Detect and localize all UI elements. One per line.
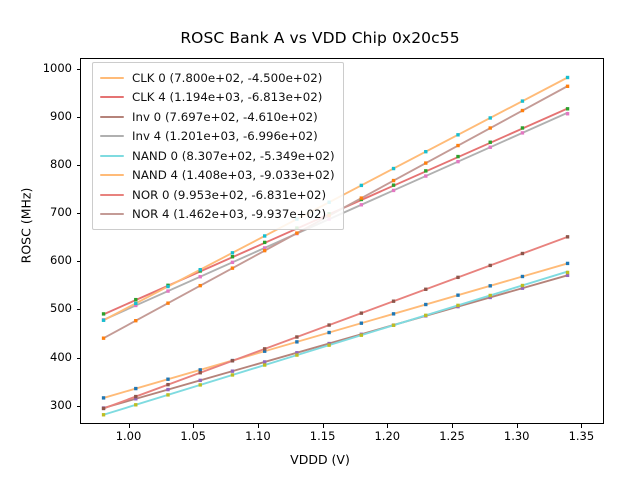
- data-point: [327, 331, 330, 334]
- data-point: [327, 323, 330, 326]
- y-tick-label: 400: [26, 350, 72, 364]
- legend-item-inv-4[interactable]: Inv 4 (1.201e+03, -6.996e+02): [100, 127, 335, 147]
- data-point: [424, 303, 427, 306]
- data-point: [199, 268, 202, 271]
- data-point: [489, 264, 492, 267]
- legend-item-clk-0[interactable]: CLK 0 (7.800e+02, -4.500e+02): [100, 68, 335, 88]
- data-point: [102, 336, 105, 339]
- data-point: [231, 251, 234, 254]
- data-point: [424, 314, 427, 317]
- data-point: [360, 334, 363, 337]
- data-point: [392, 324, 395, 327]
- data-point: [521, 109, 524, 112]
- data-point: [566, 112, 569, 115]
- data-point: [102, 407, 105, 410]
- data-point: [166, 378, 169, 381]
- data-point: [456, 144, 459, 147]
- fit-line-inv-0: [104, 275, 568, 408]
- data-point: [521, 126, 524, 129]
- data-point: [295, 231, 298, 234]
- data-point: [102, 396, 105, 399]
- data-point: [392, 189, 395, 192]
- data-point: [424, 288, 427, 291]
- legend-item-nand-4[interactable]: NAND 4 (1.408e+03, -9.033e+02): [100, 166, 335, 186]
- x-tick-label: 1.10: [230, 429, 286, 443]
- data-point: [166, 285, 169, 288]
- x-tick-mark: [323, 424, 324, 428]
- legend-swatch-icon: [100, 77, 124, 79]
- y-tick-mark: [77, 69, 81, 70]
- x-tick-label: 1.30: [489, 429, 545, 443]
- data-point: [327, 343, 330, 346]
- legend-label: NAND 4 (1.408e+03, -9.033e+02): [132, 168, 335, 182]
- legend-label: NOR 4 (1.462e+03, -9.937e+02): [132, 207, 326, 221]
- data-point: [102, 319, 105, 322]
- x-tick-mark: [387, 424, 388, 428]
- data-point: [360, 311, 363, 314]
- data-point: [231, 261, 234, 264]
- legend-label: NAND 0 (8.307e+02, -5.349e+02): [132, 149, 335, 163]
- data-point: [489, 116, 492, 119]
- y-tick-label: 500: [26, 301, 72, 315]
- data-point: [263, 234, 266, 237]
- data-point: [424, 174, 427, 177]
- y-tick-mark: [77, 165, 81, 166]
- x-tick-label: 1.00: [101, 429, 157, 443]
- legend-item-nor-0[interactable]: NOR 0 (9.953e+02, -6.831e+02): [100, 185, 335, 205]
- data-point: [566, 107, 569, 110]
- data-point: [134, 319, 137, 322]
- legend-swatch-icon: [100, 135, 124, 137]
- data-point: [456, 293, 459, 296]
- data-point: [521, 275, 524, 278]
- data-point: [134, 395, 137, 398]
- data-point: [199, 284, 202, 287]
- y-tick-label: 900: [26, 109, 72, 123]
- data-point: [424, 150, 427, 153]
- data-point: [456, 304, 459, 307]
- data-point: [231, 266, 234, 269]
- x-tick-label: 1.20: [359, 429, 415, 443]
- data-point: [521, 99, 524, 102]
- y-tick-mark: [77, 358, 81, 359]
- data-point: [360, 203, 363, 206]
- data-point: [166, 393, 169, 396]
- data-point: [360, 184, 363, 187]
- y-tick-mark: [77, 309, 81, 310]
- x-tick-mark: [258, 424, 259, 428]
- data-point: [456, 276, 459, 279]
- data-point: [566, 262, 569, 265]
- data-point: [489, 126, 492, 129]
- data-point: [134, 387, 137, 390]
- data-point: [199, 379, 202, 382]
- data-point: [199, 383, 202, 386]
- data-point: [231, 255, 234, 258]
- x-tick-label: 1.15: [295, 429, 351, 443]
- y-tick-mark: [77, 213, 81, 214]
- legend-item-clk-4[interactable]: CLK 4 (1.194e+03, -6.813e+02): [100, 88, 335, 108]
- legend-swatch-icon: [100, 96, 124, 98]
- y-tick-mark: [77, 117, 81, 118]
- data-point: [102, 312, 105, 315]
- data-point: [199, 275, 202, 278]
- data-point: [295, 353, 298, 356]
- data-point: [566, 235, 569, 238]
- y-axis-label: ROSC (MHz): [19, 156, 34, 296]
- legend-swatch-icon: [100, 194, 124, 196]
- data-point: [134, 302, 137, 305]
- y-tick-mark: [77, 261, 81, 262]
- data-point: [263, 249, 266, 252]
- data-point: [166, 301, 169, 304]
- x-tick-mark: [452, 424, 453, 428]
- page-title: ROSC Bank A vs VDD Chip 0x20c55: [0, 29, 640, 47]
- legend-label: CLK 0 (7.800e+02, -4.500e+02): [132, 71, 322, 85]
- legend-label: Inv 4 (1.201e+03, -6.996e+02): [132, 129, 318, 143]
- data-point: [263, 360, 266, 363]
- data-point: [263, 241, 266, 244]
- matplotlib-figure: ROSC Bank A vs VDD Chip 0x20c55 1.001.05…: [0, 0, 640, 480]
- data-point: [424, 161, 427, 164]
- data-point: [231, 369, 234, 372]
- data-point: [231, 359, 234, 362]
- data-point: [392, 167, 395, 170]
- data-point: [566, 85, 569, 88]
- legend-swatch-icon: [100, 213, 124, 215]
- data-point: [134, 298, 137, 301]
- legend-swatch-icon: [100, 174, 124, 176]
- x-tick-mark: [581, 424, 582, 428]
- legend-swatch-icon: [100, 116, 124, 118]
- data-point: [566, 76, 569, 79]
- y-tick-label: 300: [26, 398, 72, 412]
- data-point: [489, 284, 492, 287]
- y-tick-mark: [77, 406, 81, 407]
- x-tick-label: 1.35: [553, 429, 609, 443]
- data-point: [489, 294, 492, 297]
- x-axis-label: VDDD (V): [0, 452, 640, 467]
- data-point: [166, 388, 169, 391]
- data-point: [521, 284, 524, 287]
- data-point: [456, 160, 459, 163]
- x-tick-mark: [129, 424, 130, 428]
- y-tick-label: 1000: [26, 61, 72, 75]
- data-point: [295, 340, 298, 343]
- data-point: [199, 371, 202, 374]
- data-point: [263, 363, 266, 366]
- data-point: [521, 131, 524, 134]
- x-tick-label: 1.25: [424, 429, 480, 443]
- legend-label: CLK 4 (1.194e+03, -6.813e+02): [132, 90, 322, 104]
- x-tick-label: 1.05: [165, 429, 221, 443]
- data-point: [102, 413, 105, 416]
- data-point: [424, 169, 427, 172]
- legend-item-nand-0[interactable]: NAND 0 (8.307e+02, -5.349e+02): [100, 146, 335, 166]
- legend-swatch-icon: [100, 155, 124, 157]
- data-point: [263, 347, 266, 350]
- fit-line-nor-0: [104, 237, 568, 409]
- data-point: [392, 183, 395, 186]
- data-point: [566, 271, 569, 274]
- legend-label: NOR 0 (9.953e+02, -6.831e+02): [132, 188, 326, 202]
- data-point: [392, 300, 395, 303]
- data-point: [489, 146, 492, 149]
- data-point: [360, 321, 363, 324]
- legend-label: Inv 0 (7.697e+02, -4.610e+02): [132, 110, 318, 124]
- data-point: [360, 196, 363, 199]
- data-point: [489, 141, 492, 144]
- data-point: [166, 383, 169, 386]
- data-point: [134, 403, 137, 406]
- data-point: [456, 133, 459, 136]
- legend-item-inv-0[interactable]: Inv 0 (7.697e+02, -4.610e+02): [100, 107, 335, 127]
- x-tick-mark: [517, 424, 518, 428]
- legend: CLK 0 (7.800e+02, -4.500e+02)CLK 4 (1.19…: [92, 62, 344, 230]
- data-point: [456, 155, 459, 158]
- data-point: [392, 312, 395, 315]
- x-tick-mark: [193, 424, 194, 428]
- data-point: [166, 289, 169, 292]
- data-point: [231, 373, 234, 376]
- fit-line-nand-0: [104, 272, 568, 415]
- data-point: [392, 179, 395, 182]
- data-point: [295, 335, 298, 338]
- legend-item-nor-4[interactable]: NOR 4 (1.462e+03, -9.937e+02): [100, 205, 335, 225]
- data-point: [521, 252, 524, 255]
